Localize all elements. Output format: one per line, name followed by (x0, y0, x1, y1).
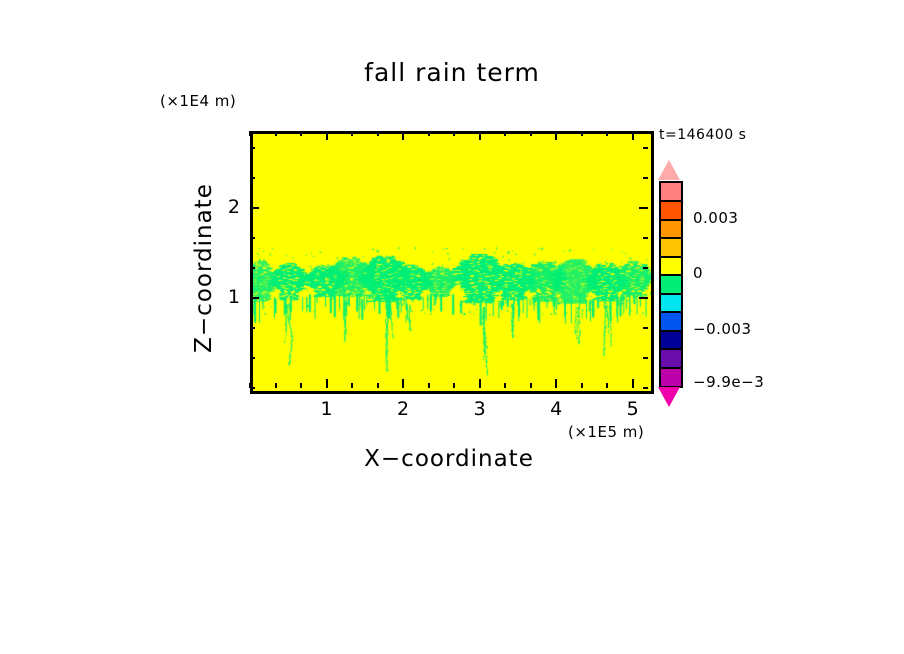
y-axis-tick-right (639, 207, 648, 209)
y-axis-tick (250, 177, 255, 179)
y-axis-tick-label: 2 (200, 196, 240, 218)
colorbar-band (661, 331, 681, 349)
x-axis-tick-top (581, 131, 583, 136)
colorbar-band-separator (661, 256, 681, 258)
x-axis-tick-top (632, 131, 634, 140)
colorbar-band (661, 349, 681, 367)
y-axis-tick-right (643, 237, 648, 239)
x-axis-tick-top (555, 131, 557, 140)
y-axis-tick (250, 387, 255, 389)
colorbar-band (661, 220, 681, 238)
x-axis-tick-top (453, 131, 455, 136)
colorbar-band-separator (661, 293, 681, 295)
x-axis-tick-top (530, 131, 532, 136)
y-axis-tick (250, 297, 259, 299)
colorbar-band (661, 183, 681, 201)
x-axis-tick (530, 383, 532, 388)
x-axis-tick (351, 383, 353, 388)
colorbar-band-separator (661, 200, 681, 202)
colorbar-band-separator (661, 367, 681, 369)
x-axis-tick-label: 4 (536, 398, 576, 420)
heatmap-canvas (253, 134, 651, 391)
x-axis-tick (377, 383, 379, 388)
colorbar-band-separator (661, 311, 681, 313)
y-axis-title: Z−coordinate (191, 58, 217, 478)
x-axis-tick (326, 379, 328, 388)
x-axis-tick-label: 5 (613, 398, 653, 420)
x-axis-tick (606, 383, 608, 388)
colorbar-tick-label: 0 (693, 264, 703, 282)
x-axis-tick (479, 379, 481, 388)
x-axis-tick (504, 383, 506, 388)
x-axis-tick-top (402, 131, 404, 140)
colorbar-band (661, 238, 681, 256)
x-axis-tick-top (479, 131, 481, 140)
plot-area (250, 131, 654, 394)
time-annotation: t=146400 s (659, 127, 746, 143)
colorbar-band-separator (661, 330, 681, 332)
colorbar (659, 181, 683, 388)
x-axis-title: X−coordinate (250, 446, 648, 472)
y-axis-tick-label: 1 (200, 286, 240, 308)
x-axis-tick-top (377, 131, 379, 136)
colorbar-band (661, 294, 681, 312)
x-axis-tick-top (326, 131, 328, 140)
colorbar-band-separator (661, 274, 681, 276)
colorbar-band-separator (661, 219, 681, 221)
x-axis-tick-top (504, 131, 506, 136)
x-axis-tick (275, 383, 277, 388)
x-axis-tick (555, 379, 557, 388)
colorbar-band (661, 312, 681, 330)
colorbar-band (661, 368, 681, 386)
x-axis-tick (300, 383, 302, 388)
y-axis-tick (250, 237, 255, 239)
colorbar-band-separator (661, 237, 681, 239)
colorbar-band (661, 257, 681, 275)
colorbar-over-arrow (658, 160, 680, 180)
x-axis-tick-top (275, 131, 277, 136)
y-axis-tick-right (639, 297, 648, 299)
x-axis-tick-top (428, 131, 430, 136)
y-axis-tick (250, 267, 255, 269)
x-axis-tick-label: 2 (383, 398, 423, 420)
colorbar-tick-label: 0.003 (693, 209, 738, 227)
x-axis-unit-label: (×1E5 m) (568, 423, 644, 441)
x-axis-tick (402, 379, 404, 388)
colorbar-tick-label: −0.003 (693, 320, 752, 338)
y-axis-tick (250, 357, 255, 359)
x-axis-tick-label: 3 (460, 398, 500, 420)
x-axis-tick (428, 383, 430, 388)
y-axis-tick-right (643, 387, 648, 389)
x-axis-tick-top (300, 131, 302, 136)
x-axis-tick-top (606, 131, 608, 136)
colorbar-band (661, 201, 681, 219)
x-axis-tick-top (249, 131, 251, 136)
x-axis-tick (581, 383, 583, 388)
y-axis-tick (250, 207, 259, 209)
page-title: fall rain term (0, 58, 904, 87)
x-axis-tick (632, 379, 634, 388)
y-axis-tick-right (643, 267, 648, 269)
x-axis-tick-top (351, 131, 353, 136)
y-axis-tick-right (643, 357, 648, 359)
y-axis-tick-right (643, 327, 648, 329)
y-axis-tick-right (643, 177, 648, 179)
colorbar-under-arrow (658, 387, 680, 407)
colorbar-band (661, 275, 681, 293)
y-axis-tick (250, 327, 255, 329)
y-axis-tick-right (643, 147, 648, 149)
x-axis-tick (453, 383, 455, 388)
colorbar-tick-label: −9.9e−3 (693, 373, 764, 391)
x-axis-tick-label: 1 (307, 398, 347, 420)
y-axis-tick (250, 147, 255, 149)
colorbar-band-separator (661, 348, 681, 350)
